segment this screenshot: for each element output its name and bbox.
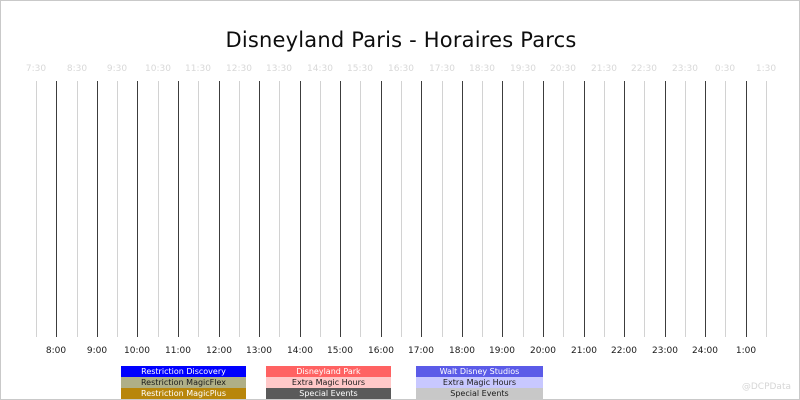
x-tick-label-bottom: 22:00 [611, 346, 637, 356]
legend-column-walt-disney-studios: Walt Disney StudiosExtra Magic HoursSpec… [416, 366, 543, 399]
gridline-half-hour [766, 81, 767, 337]
x-tick-label-bottom: 20:00 [530, 346, 556, 356]
x-tick-label-top: 16:30 [388, 64, 414, 74]
legend-column-disneyland-park: Disneyland ParkExtra Magic HoursSpecial … [266, 366, 391, 399]
x-tick-label-top: 21:30 [591, 64, 617, 74]
watermark: @DCPData [742, 382, 791, 392]
x-tick-label-top: 22:30 [631, 64, 657, 74]
x-tick-label-top: 23:30 [672, 64, 698, 74]
x-tick-label-top: 11:30 [185, 64, 211, 74]
chart-page: Disneyland Paris - Horaires Parcs 7:308:… [0, 0, 800, 400]
x-tick-label-bottom: 24:00 [692, 346, 718, 356]
legend-item[interactable]: Special Events [266, 388, 391, 399]
x-tick-label-bottom: 11:00 [165, 346, 191, 356]
x-tick-label-top: 17:30 [429, 64, 455, 74]
legend-item[interactable]: Restriction Discovery [121, 366, 246, 377]
legend-item[interactable]: Restriction MagicPlus [121, 388, 246, 399]
x-tick-label-top: 7:30 [26, 64, 46, 74]
x-tick-label-bottom: 9:00 [87, 346, 107, 356]
legend-item[interactable]: Restriction MagicFlex [121, 377, 246, 388]
x-tick-label-top: 9:30 [107, 64, 127, 74]
page-title: Disneyland Paris - Horaires Parcs [1, 28, 800, 52]
legend-item[interactable]: Walt Disney Studios [416, 366, 543, 377]
x-tick-label-bottom: 18:00 [449, 346, 475, 356]
x-tick-label-bottom: 23:00 [652, 346, 678, 356]
x-tick-label-bottom: 1:00 [736, 346, 756, 356]
x-tick-label-bottom: 21:00 [571, 346, 597, 356]
x-tick-label-bottom: 12:00 [206, 346, 232, 356]
legend-item[interactable]: Special Events [416, 388, 543, 399]
legend-item[interactable]: Extra Magic Hours [416, 377, 543, 388]
legend-column-restrictions: Restriction DiscoveryRestriction MagicFl… [121, 366, 246, 399]
legend-item[interactable]: Disneyland Park [266, 366, 391, 377]
x-tick-label-top: 14:30 [307, 64, 333, 74]
x-tick-label-bottom: 14:00 [287, 346, 313, 356]
x-tick-label-top: 20:30 [550, 64, 576, 74]
x-tick-label-top: 10:30 [145, 64, 171, 74]
x-tick-label-top: 19:30 [510, 64, 536, 74]
x-tick-label-bottom: 8:00 [46, 346, 66, 356]
x-tick-label-top: 13:30 [266, 64, 292, 74]
x-tick-label-bottom: 10:00 [124, 346, 150, 356]
x-tick-label-bottom: 16:00 [368, 346, 394, 356]
x-tick-label-top: 1:30 [756, 64, 776, 74]
legend-item[interactable]: Extra Magic Hours [266, 377, 391, 388]
x-tick-label-top: 0:30 [715, 64, 735, 74]
x-tick-label-bottom: 19:00 [489, 346, 515, 356]
x-tick-label-bottom: 13:00 [246, 346, 272, 356]
x-tick-label-top: 8:30 [67, 64, 87, 74]
x-tick-label-bottom: 15:00 [327, 346, 353, 356]
x-tick-label-top: 15:30 [347, 64, 373, 74]
chart-plot-area [36, 81, 766, 337]
x-tick-label-top: 12:30 [226, 64, 252, 74]
x-tick-label-bottom: 17:00 [408, 346, 434, 356]
chart-legend: Restriction DiscoveryRestriction MagicFl… [1, 366, 800, 400]
x-tick-label-top: 18:30 [469, 64, 495, 74]
